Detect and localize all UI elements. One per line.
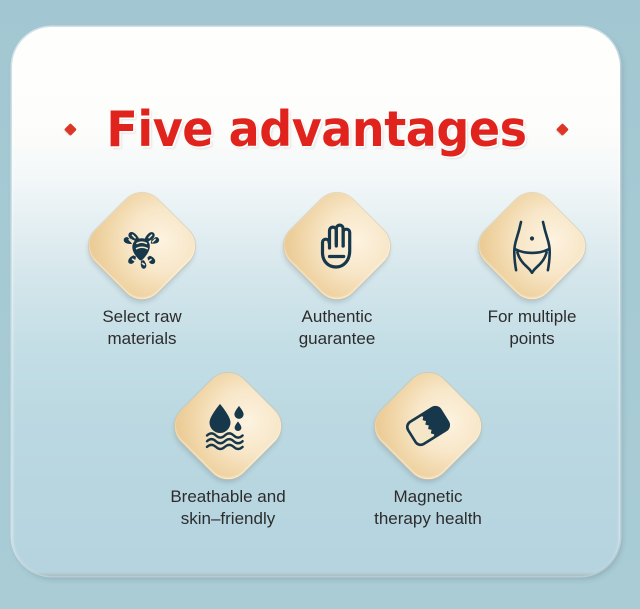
feature-item-select-raw-materials[interactable]: Select raw materials xyxy=(57,202,227,351)
feature-badge xyxy=(166,364,290,488)
feature-item-breathable-skin-friendly[interactable]: Breathable and skin–friendly xyxy=(143,382,313,531)
page-title-row: Five advantages xyxy=(12,105,620,154)
navel-dot xyxy=(530,236,534,240)
feature-item-for-multiple-points[interactable]: For multiple points xyxy=(447,202,617,351)
ginger-root-icon xyxy=(117,221,167,271)
magnet-patch-icon xyxy=(401,399,455,453)
diamond-bullet-right-icon xyxy=(556,123,569,136)
feature-badge xyxy=(275,184,399,308)
feature-label: Breathable and skin–friendly xyxy=(170,486,285,531)
feature-badge xyxy=(366,364,490,488)
poster-canvas: Five advantages xyxy=(0,0,640,609)
feature-badge xyxy=(470,184,594,308)
feature-label: Magnetic therapy health xyxy=(374,486,482,531)
feature-item-authentic-guarantee[interactable]: Authentic guarantee xyxy=(252,202,422,351)
diamond-bullet-left-icon xyxy=(64,123,77,136)
feature-label: For multiple points xyxy=(488,306,577,351)
raised-hand-icon xyxy=(313,220,361,272)
feature-item-magnetic-therapy-health[interactable]: Magnetic therapy health xyxy=(343,382,513,531)
belly-waist-icon xyxy=(505,218,559,274)
advantages-card: Five advantages xyxy=(12,27,620,576)
feature-badge xyxy=(80,184,204,308)
water-drops-waves-icon xyxy=(201,401,255,451)
page-title: Five advantages xyxy=(106,105,526,154)
feature-label: Select raw materials xyxy=(102,306,181,351)
feature-label: Authentic guarantee xyxy=(299,306,376,351)
